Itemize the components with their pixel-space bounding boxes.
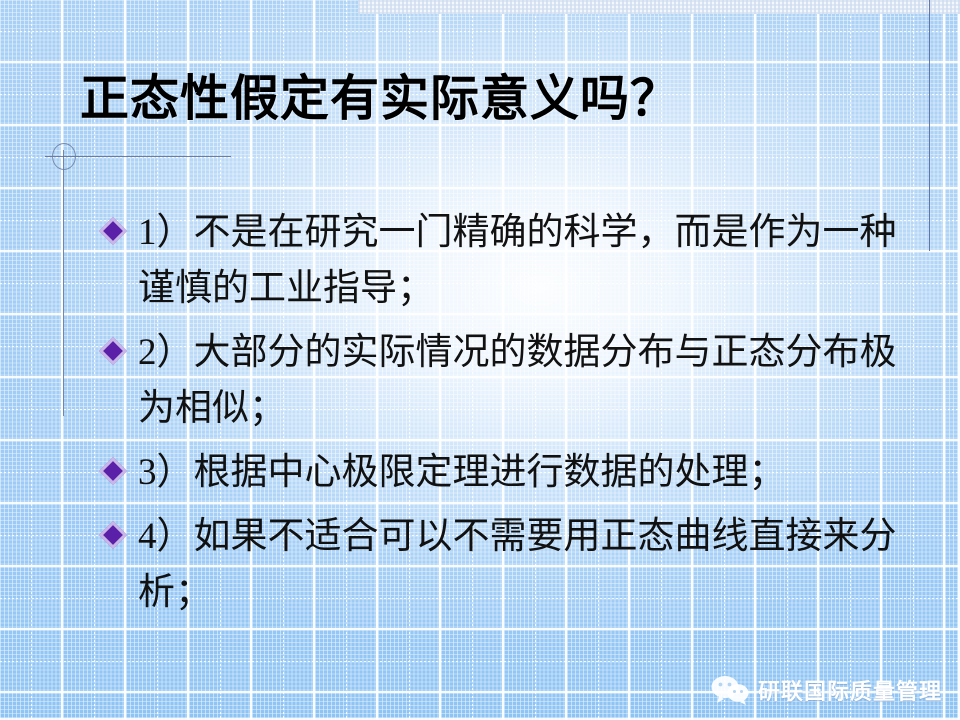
watermark-label: 研联国际质量管理 — [758, 674, 942, 706]
list-item: 3）根据中心极限定理进行数据的处理； — [100, 445, 910, 501]
list-item-text: 3）根据中心极限定理进行数据的处理； — [138, 452, 786, 493]
list-item-text: 2）大部分的实际情况的数据分布与正态分布极为相似； — [138, 332, 897, 429]
decorative-circle — [52, 143, 76, 170]
slide-body: 1）不是在研究一门精确的科学，而是作为一种谨慎的工业指导； 2）大部分的实际情况… — [100, 205, 910, 629]
list-item: 4）如果不适合可以不需要用正态曲线直接来分析； — [100, 509, 910, 621]
list-item-text: 4）如果不适合可以不需要用正态曲线直接来分析； — [138, 516, 897, 613]
top-decorative-band — [358, 0, 960, 14]
list-item-text: 1）不是在研究一门精确的科学，而是作为一种谨慎的工业指导； — [138, 212, 897, 309]
decorative-vertical-line — [63, 150, 64, 416]
diamond-bullet-icon — [99, 217, 127, 245]
list-item: 2）大部分的实际情况的数据分布与正态分布极为相似； — [100, 325, 910, 437]
decorative-right-line — [929, 0, 930, 251]
wechat-icon — [710, 674, 750, 706]
watermark: 研联国际质量管理 — [710, 674, 942, 706]
presentation-slide: 正态性假定有实际意义吗？ 1）不是在研究一门精确的科学，而是作为一种谨慎的工业指… — [0, 0, 960, 720]
list-item: 1）不是在研究一门精确的科学，而是作为一种谨慎的工业指导； — [100, 205, 910, 317]
diamond-bullet-icon — [99, 457, 127, 485]
diamond-bullet-icon — [99, 337, 127, 365]
diamond-bullet-icon — [99, 521, 127, 549]
slide-title: 正态性假定有实际意义吗？ — [80, 74, 680, 123]
